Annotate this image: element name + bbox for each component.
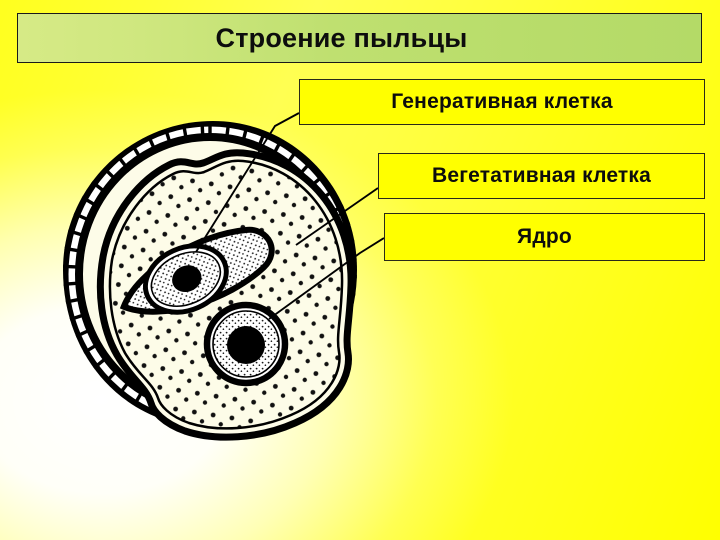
label-generative-cell[interactable]: Генеративная клетка [299, 79, 705, 125]
label-generative-cell-text: Генеративная клетка [391, 90, 612, 114]
label-nucleus[interactable]: Ядро [384, 213, 705, 261]
label-vegetative-cell[interactable]: Вегетативная клетка [378, 153, 705, 199]
label-nucleus-text: Ядро [517, 225, 572, 249]
page-title: Строение пыльцы [18, 14, 701, 62]
slide-canvas: Строение пыльцы [0, 0, 720, 540]
vegetative-nucleus [207, 305, 285, 383]
nucleolus [227, 326, 265, 364]
slide-title-box: Строение пыльцы [17, 13, 702, 63]
label-vegetative-cell-text: Вегетативная клетка [432, 164, 651, 188]
pollen-grain-diagram [45, 115, 385, 475]
